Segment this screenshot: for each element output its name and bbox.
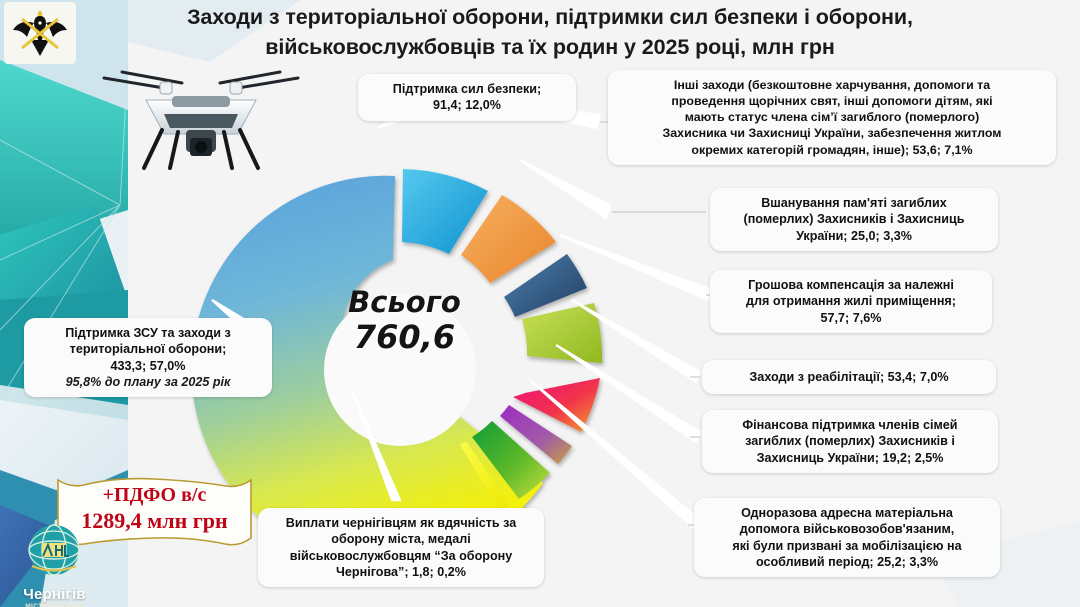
- callout-line: Захисника чи Захисниці України, забезпеч…: [618, 125, 1046, 141]
- callout-line: 57,7; 7,6%: [720, 310, 982, 326]
- callout-line: 91,4; 12,0%: [368, 97, 566, 113]
- coat-of-arms-chernihiv-icon: [4, 2, 76, 64]
- pdfo-line-1: +ПДФО в/с: [103, 483, 207, 507]
- callout-line: Підтримка ЗСУ та заходи з: [34, 325, 262, 341]
- callout-hroshova-kompensatsiia[interactable]: Грошова компенсація за належні для отрим…: [710, 270, 992, 333]
- title-line-1: Заходи з територіальної оборони, підтрим…: [150, 2, 950, 32]
- chernihiv-city-logo: Чернігів МІСТО ЛЕГЕНДА: [2, 522, 107, 607]
- title-line-2: військовослужбовців та їх родин у 2025 р…: [150, 32, 950, 62]
- callout-pidtrymka-syl-bezpeky[interactable]: Підтримка сил безпеки; 91,4; 12,0%: [358, 74, 576, 121]
- globe-logo-icon: [2, 522, 107, 580]
- callout-line: проведення щорічних свят, інші допомоги …: [618, 93, 1046, 109]
- callout-line: які були призвані за мобілізацією на: [704, 538, 990, 554]
- leader-vshanuvannia: [520, 160, 610, 218]
- infographic-slide: Заходи з територіальної оборони, підтрим…: [0, 0, 1080, 607]
- callout-line: окремих категорій громадян, інше); 53,6;…: [618, 142, 1046, 158]
- quadcopter-icon: [86, 52, 316, 172]
- callout-line: особливий період; 25,2; 3,3%: [704, 554, 990, 570]
- callout-line: Інші заходи (безкоштовне харчування, доп…: [618, 77, 1046, 93]
- callout-vyplaty-chernihivtsiam[interactable]: Виплати чернігівцям як вдячність за обор…: [258, 508, 544, 587]
- callout-line: для отримання жилі приміщення;: [720, 293, 982, 309]
- city-logo-subtitle: МІСТО ЛЕГЕНДА: [2, 603, 107, 607]
- callout-line: Вшанування пам'яті загиблих: [720, 195, 988, 211]
- callout-zakhody-reabilitatsii[interactable]: Заходи з реабілітації; 53,4; 7,0%: [702, 360, 996, 394]
- callout-line: (померлих) Захисників і Захисниць: [720, 211, 988, 227]
- callout-odnorazova-dopomoha[interactable]: Одноразова адресна матеріальна допомога …: [694, 498, 1000, 577]
- callout-line: Заходи з реабілітації; 53,4; 7,0%: [712, 369, 986, 385]
- leader-odnorazova: [530, 380, 700, 530]
- callout-line: Грошова компенсація за належні: [720, 277, 982, 293]
- callout-line: Одноразова адресна матеріальна: [704, 505, 990, 521]
- callout-finansova-pidtrymka[interactable]: Фінансова підтримка членів сімей загибли…: [702, 410, 998, 473]
- callout-line: Підтримка сил безпеки;: [368, 81, 566, 97]
- callout-line: загиблих (померлих) Захисників і: [712, 433, 988, 449]
- city-logo-name: Чернігів: [2, 586, 107, 603]
- callout-line: Захисниць України; 19,2; 2,5%: [712, 450, 988, 466]
- eagle-crest-svg: [9, 6, 71, 60]
- callout-line: мають статус члена сім’ї загиблого (поме…: [618, 109, 1046, 125]
- callout-subnote: 95,8% до плану за 2025 рік: [34, 374, 262, 390]
- callout-line: 433,3; 57,0%: [34, 358, 262, 374]
- callout-vshanuvannia-pamiati[interactable]: Вшанування пам'яті загиблих (померлих) З…: [710, 188, 998, 251]
- callout-inshi-zakhody[interactable]: Інші заходи (безкоштовне харчування, доп…: [608, 70, 1056, 165]
- slide-title: Заходи з територіальної оборони, підтрим…: [150, 2, 950, 62]
- callout-line: України; 25,0; 3,3%: [720, 228, 988, 244]
- callout-pidtrymka-zsu[interactable]: Підтримка ЗСУ та заходи з територіальної…: [24, 318, 272, 397]
- callout-line: територіальної оборони;: [34, 341, 262, 357]
- callout-line: Виплати чернігівцям як вдячність за: [268, 515, 534, 531]
- leader-hroshova: [560, 235, 712, 300]
- callout-line: військовослужбовцям “За оборону: [268, 548, 534, 564]
- callout-line: Фінансова підтримка членів сімей: [712, 417, 988, 433]
- callout-line: допомога військовозобов'язаним,: [704, 521, 990, 537]
- callout-line: оборону міста, медалі: [268, 531, 534, 547]
- leader-vyplaty: [352, 390, 400, 500]
- callout-line: Чернігова”; 1,8; 0,2%: [268, 564, 534, 580]
- drone-photo: [86, 52, 316, 177]
